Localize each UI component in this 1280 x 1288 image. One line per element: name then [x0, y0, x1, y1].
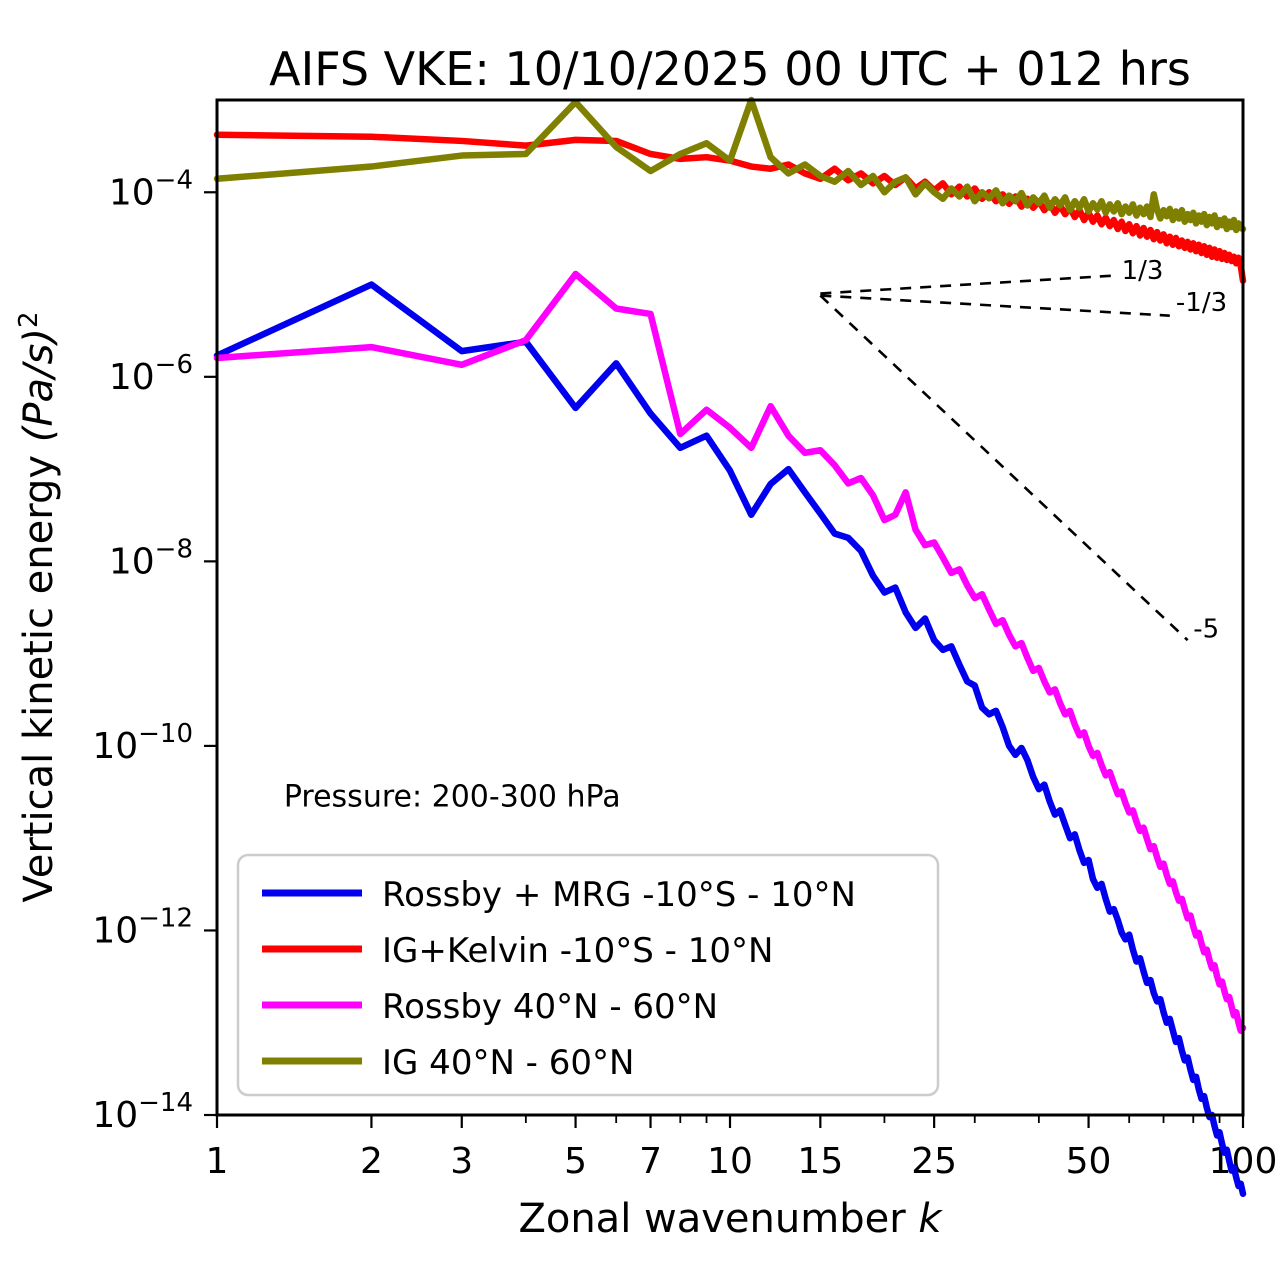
chart-legend[interactable]: Rossby + MRG -10°S - 10°NIG+Kelvin -10°S… [238, 855, 938, 1095]
slope-label-minus-five: -5 [1193, 614, 1219, 644]
chart-title: AIFS VKE: 10/10/2025 00 UTC + 012 hrs [269, 42, 1191, 96]
y-tick-label-4: 10−12 [92, 903, 193, 951]
y-tick-label-3: 10−10 [92, 719, 193, 767]
x-tick-label-100: 100 [1209, 1141, 1278, 1182]
y-tick-label-5: 10−14 [92, 1088, 193, 1136]
pressure-annotation: Pressure: 200-300 hPa [284, 780, 621, 815]
y-tick-label-2: 10−8 [109, 534, 193, 582]
x-axis-title: Zonal wavenumber k [518, 1196, 943, 1242]
slope-guides-layer [820, 276, 1187, 641]
slope-guide-plus-one-third [820, 276, 1113, 294]
figure-canvas: AIFS VKE: 10/10/2025 00 UTC + 012 hrs Ve… [0, 0, 1280, 1288]
y-axis-title: Vertical kinetic energy (Pa/s)2 [14, 312, 62, 903]
x-tick-label-5: 5 [564, 1141, 587, 1182]
series-line-3 [217, 100, 1243, 230]
x-tick-label-7: 7 [639, 1141, 662, 1182]
slope-label-minus-third: -1/3 [1176, 288, 1227, 318]
legend-label-0[interactable]: Rossby + MRG -10°S - 10°N [382, 875, 856, 915]
legend-label-3[interactable]: IG 40°N - 60°N [382, 1043, 634, 1083]
x-tick-label-10: 10 [707, 1141, 753, 1182]
slope-guide-minus-one-third [820, 296, 1169, 316]
slope-label-plus-third: 1/3 [1122, 256, 1164, 286]
x-tick-label-1: 1 [206, 1141, 229, 1182]
x-tick-label-3: 3 [450, 1141, 473, 1182]
y-tick-label-1: 10−6 [109, 350, 193, 398]
x-tick-label-2: 2 [360, 1141, 383, 1182]
x-tick-label-15: 15 [797, 1141, 843, 1182]
y-axis-label: Vertical kinetic energy (Pa/s)2 [14, 312, 62, 903]
y-tick-label-0: 10−4 [109, 165, 193, 213]
legend-label-1[interactable]: IG+Kelvin -10°S - 10°N [382, 931, 773, 971]
x-axis-label: Zonal wavenumber k [518, 1196, 943, 1242]
x-tick-label-50: 50 [1066, 1141, 1112, 1182]
legend-label-2[interactable]: Rossby 40°N - 60°N [382, 987, 718, 1027]
x-tick-label-25: 25 [911, 1141, 957, 1182]
vke-spectrum-chart: AIFS VKE: 10/10/2025 00 UTC + 012 hrs Ve… [0, 0, 1280, 1288]
slope-guide-minus-five [820, 296, 1187, 641]
